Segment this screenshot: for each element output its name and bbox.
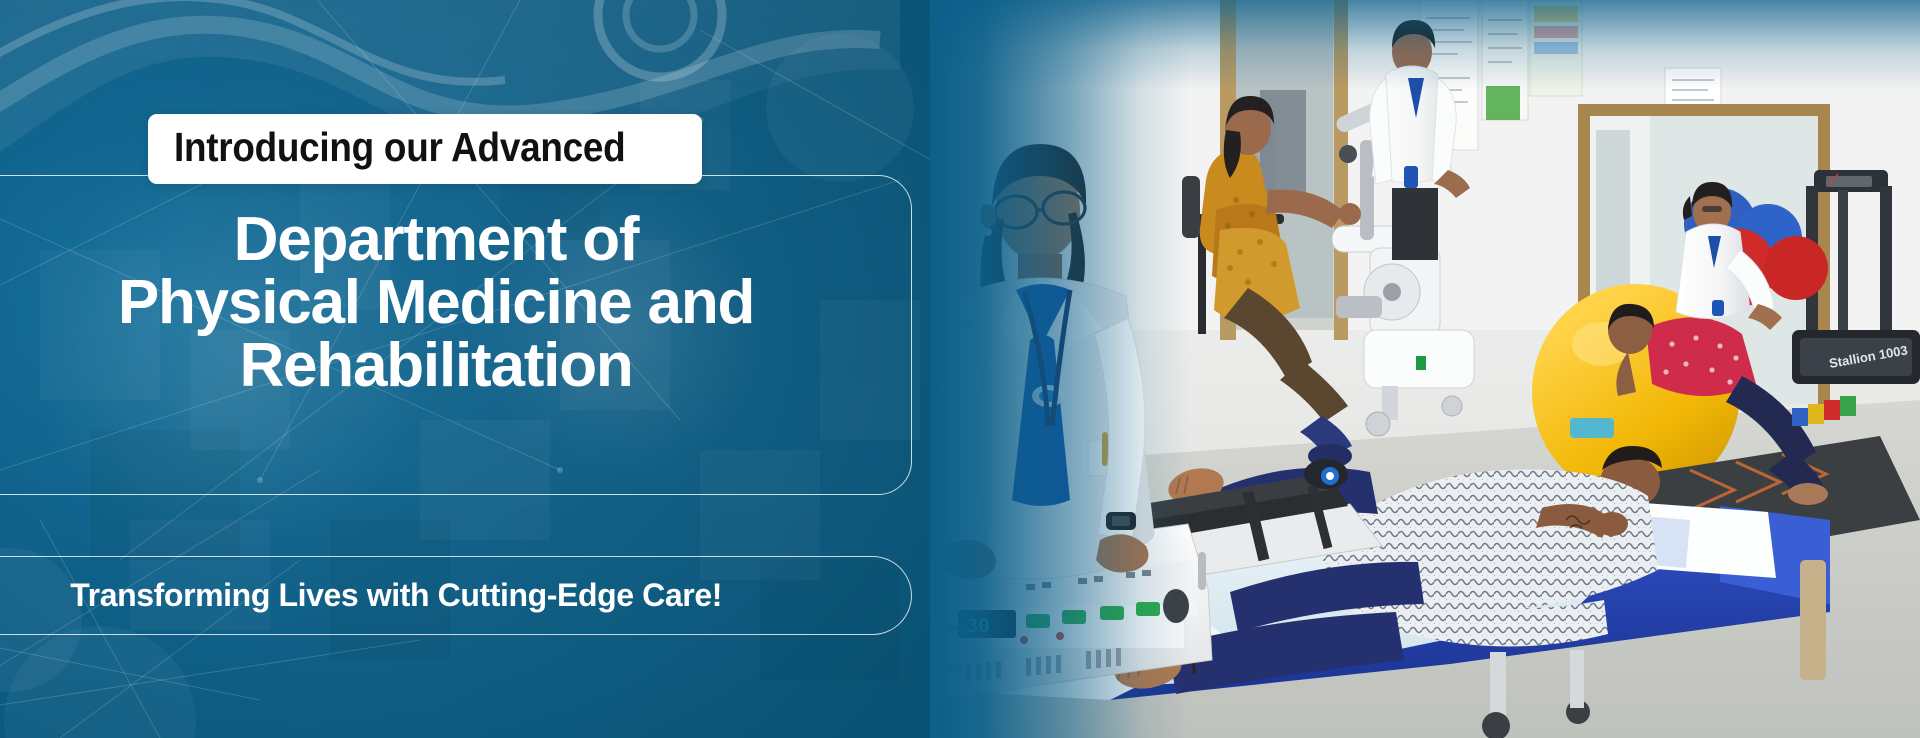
tagline-text: Transforming Lives with Cutting-Edge Car… (70, 577, 722, 614)
intro-badge: Introducing our Advanced (148, 114, 702, 184)
hero-photo: Stallion 1003 (930, 0, 1920, 738)
page-title-line-1: Department of (0, 208, 912, 271)
page-title-line-2: Physical Medicine and (0, 271, 912, 334)
intro-badge-label: Introducing our Advanced (174, 124, 625, 171)
banner-root: Stallion 1003 (0, 0, 1920, 738)
svg-text:CP-66: CP-66 (942, 665, 965, 674)
tagline: Transforming Lives with Cutting-Edge Car… (0, 556, 912, 635)
svg-text:30: 30 (966, 616, 990, 639)
page-title-line-3: Rehabilitation (0, 334, 912, 397)
svg-text:CPM: CPM (942, 624, 962, 634)
page-title: Department of Physical Medicine and Reha… (0, 182, 912, 398)
